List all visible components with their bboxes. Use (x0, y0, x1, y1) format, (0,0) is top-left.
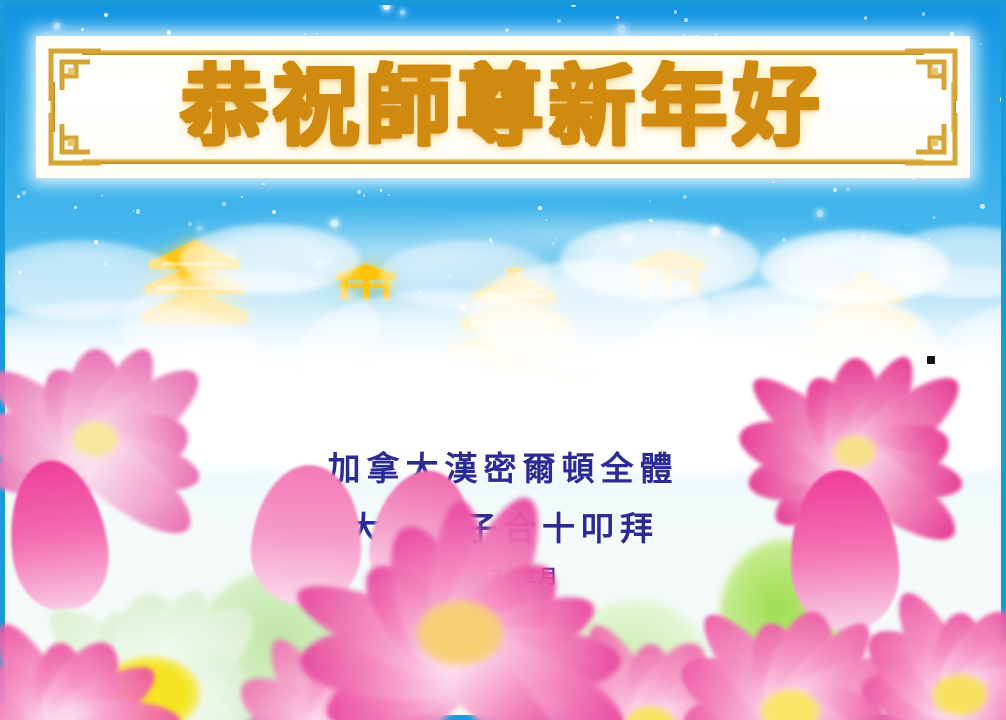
title-banner: 恭祝師尊新年好 (36, 36, 970, 178)
banner-title: 恭祝師尊新年好 (36, 36, 970, 178)
greeting-card: 恭祝師尊新年好 加拿大漢密爾頓全體 大法弟子合十叩拜 2017年1月 (0, 0, 1006, 720)
cloud-band (0, 300, 1006, 470)
black-dot-speck (927, 356, 935, 364)
